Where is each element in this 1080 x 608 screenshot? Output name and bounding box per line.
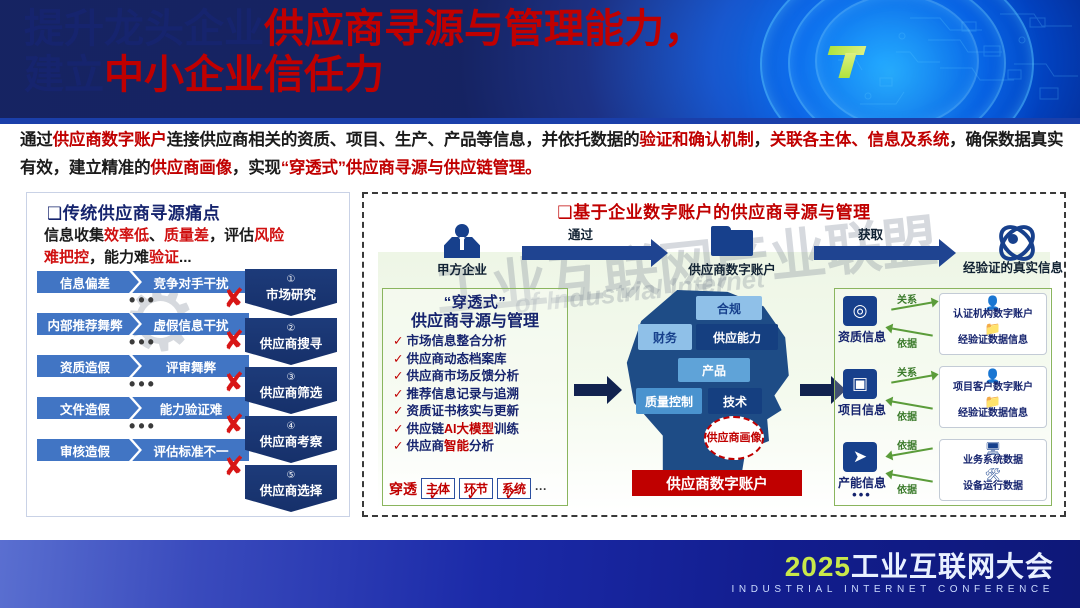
- monitor-icon: 🖥: [940, 442, 1046, 455]
- pain-left-label: 资质造假: [37, 357, 133, 376]
- stage-number: ②: [245, 318, 337, 337]
- stage-name: 供应商搜寻: [245, 337, 337, 351]
- penetrate-tag-subject: 主体: [421, 478, 455, 499]
- check-icon: ✓: [393, 404, 403, 418]
- relation-label-bottom: 依据: [897, 481, 917, 496]
- pain-point-chevron: 信息偏差 竞争对手干扰: [37, 271, 249, 293]
- title-line-2: 建立中小企业信任力: [24, 52, 784, 98]
- sourcing-stage-list: ① 市场研究 ② 供应商搜寻 ③ 供应商筛选 ④ 供应商考察 ⑤ 供应商选择: [245, 269, 337, 514]
- title-line-1: 提升龙头企业供应商寻源与管理能力，: [24, 6, 784, 52]
- t-logo-icon: [825, 44, 871, 80]
- list-item: ✓资质证书核实与更新: [393, 403, 567, 421]
- pain-point-chevron: 文件造假 能力验证难: [37, 397, 249, 419]
- conference-logo-sub: INDUSTRIAL INTERNET CONFERENCE: [732, 584, 1054, 595]
- list-item: ✓供应商智能分析: [393, 438, 567, 456]
- conference-logo-main: 2025工业互联网大会: [732, 552, 1054, 582]
- box-a-heading-1: “穿透式”: [383, 291, 567, 312]
- relation-label-top: 关系: [897, 364, 917, 379]
- puzzle-piece-compliance: 合规: [696, 296, 762, 320]
- flow-node-account: 供应商数字账户: [657, 226, 807, 278]
- row-separator-dots: •••: [37, 335, 249, 353]
- row-separator-dots: •••: [37, 377, 249, 395]
- info-group-project: ▣ 项目信息 关系 依据 👤 项目客户数字账户 📁 经验证数据信息: [835, 364, 1051, 433]
- stage-item: ⑤ 供应商选择: [245, 465, 337, 512]
- flow-arrow-1: [522, 246, 652, 260]
- stage-name: 供应商考察: [245, 435, 337, 449]
- qualification-icon: ◎: [843, 296, 877, 326]
- list-item: ✓市场信息整合分析: [393, 333, 567, 351]
- penetrate-row: 穿透 主体 环节 系统 ···: [389, 478, 547, 499]
- stage-item: ④ 供应商考察: [245, 416, 337, 463]
- evidence-text: 经验证数据信息: [940, 335, 1046, 346]
- stage-item: ② 供应商搜寻: [245, 318, 337, 365]
- pain-left-label: 内部推荐舞弊: [37, 315, 133, 334]
- pain-point-chevron: 资质造假 评审舞弊: [37, 355, 249, 377]
- check-icon: ✓: [393, 352, 403, 366]
- stage-item: ① 市场研究: [245, 269, 337, 316]
- left-panel-pain-points: ⚙ ❑传统供应商寻源痛点 信息收集效率低、质量差，评估风险难把控，能力难验证..…: [26, 192, 350, 517]
- flow-node-label: 供应商数字账户: [657, 259, 807, 278]
- evidence-text: 项目客户数字账户: [940, 382, 1046, 393]
- cross-mark-icon: ✘: [222, 410, 246, 437]
- row-separator-dots: •••: [37, 419, 249, 437]
- pain-point-chevron: 审核造假 评估标准不一: [37, 439, 249, 461]
- penetrate-ellipsis: ···: [535, 482, 547, 496]
- list-item: ✓供应链AI大模型训练: [393, 421, 567, 439]
- slide-footer: 2025工业互联网大会 INDUSTRIAL INTERNET CONFEREN…: [0, 540, 1080, 608]
- penetrate-tag-stage: 环节: [459, 478, 493, 499]
- stage-item: ③ 供应商筛选: [245, 367, 337, 414]
- arrow-into-brain: [574, 384, 608, 396]
- header-divider-bar: [0, 118, 1080, 124]
- penetrative-sourcing-box: “穿透式” 供应商寻源与管理 ✓市场信息整合分析 ✓供应商动态档案库 ✓供应商市…: [382, 288, 568, 506]
- capacity-icon: ➤: [843, 442, 877, 472]
- pain-left-label: 信息偏差: [37, 273, 133, 292]
- info-group-qualification: ◎ 资质信息 关系 依据 👤 认证机构数字账户 📁 经验证数据信息: [835, 291, 1051, 360]
- evidence-text: 认证机构数字账户: [940, 309, 1046, 320]
- flow-node-verified: 经验证的真实信息: [938, 222, 1066, 276]
- evidence-card: 👤 项目客户数字账户 📁 经验证数据信息: [939, 366, 1047, 428]
- relation-label-top: 依据: [897, 437, 917, 452]
- cross-mark-icon: ✘: [222, 452, 246, 479]
- box-a-heading-2: 供应商寻源与管理: [383, 312, 567, 331]
- flow-arrow-1-label: 通过: [568, 224, 593, 243]
- supplier-digital-account-bar: 供应商数字账户: [632, 470, 802, 496]
- stage-number: ③: [245, 367, 337, 386]
- pain-left-label: 文件造假: [37, 399, 133, 418]
- flow-arrow-2: [814, 246, 940, 260]
- puzzle-piece-supply: 供应能力: [696, 324, 778, 350]
- conference-logo: 2025工业互联网大会 INDUSTRIAL INTERNET CONFEREN…: [732, 552, 1054, 595]
- capability-list: ✓市场信息整合分析 ✓供应商动态档案库 ✓供应商市场反馈分析 ✓推荐信息记录与追…: [383, 333, 567, 456]
- puzzle-piece-quality: 质量控制: [636, 388, 702, 414]
- info-group-label: 项目信息: [837, 401, 887, 418]
- summary-paragraph: 通过供应商数字账户连接供应商相关的资质、项目、生产、产品等信息，并依托数据的验证…: [20, 126, 1066, 182]
- supplier-profile-brain: 合规 财务 供应能力 产品 质量控制 技术 供应商画像 供应商数字账户: [576, 288, 820, 506]
- info-group-label: 资质信息: [837, 328, 887, 345]
- list-item: ✓供应商动态档案库: [393, 351, 567, 369]
- cross-mark-icon: ✘: [222, 326, 246, 353]
- atom-icon: [993, 222, 1033, 256]
- evidence-card: 👤 认证机构数字账户 📁 经验证数据信息: [939, 293, 1047, 355]
- stage-number: ④: [245, 416, 337, 435]
- cross-mark-icon: ✘: [222, 284, 246, 311]
- machine-icon: 🛠: [940, 468, 1046, 481]
- check-icon: ✓: [393, 387, 403, 401]
- stage-name: 供应商筛选: [245, 386, 337, 400]
- penetrate-tag-system: 系统: [497, 478, 531, 499]
- folder-icon: 📁: [940, 322, 1046, 335]
- person-icon: 👤: [940, 296, 1046, 309]
- puzzle-piece-tech: 技术: [708, 388, 762, 414]
- puzzle-piece-finance: 财务: [638, 324, 692, 350]
- relation-label-top: 关系: [897, 291, 917, 306]
- evidence-text: 经验证数据信息: [940, 408, 1046, 419]
- relation-label-bottom: 依据: [897, 408, 917, 423]
- stage-number: ⑤: [245, 465, 337, 484]
- left-panel-subtitle: 信息收集效率低、质量差，评估风险难把控，能力难验证...: [44, 225, 294, 269]
- list-item: ✓供应商市场反馈分析: [393, 368, 567, 386]
- relation-label-bottom: 依据: [897, 335, 917, 350]
- evidence-text: 设备运行数据: [940, 481, 1046, 492]
- cross-mark-icon: ✘: [222, 368, 246, 395]
- info-group-capacity: ➤ 产能信息 ••• 依据 依据 🖥 业务系统数据 🛠 设备运行数据: [835, 437, 1051, 506]
- person-icon: 👤: [940, 369, 1046, 382]
- supplier-portrait-badge: 供应商画像: [704, 416, 764, 460]
- stage-name: 供应商选择: [245, 484, 337, 498]
- flow-arrow-2-label: 获取: [858, 224, 883, 243]
- row-separator-dots: •••: [37, 293, 249, 311]
- businessman-icon: [442, 224, 482, 258]
- stage-number: ①: [245, 269, 337, 288]
- page-title: 提升龙头企业供应商寻源与管理能力， 建立中小企业信任力: [24, 6, 784, 99]
- stage-name: 市场研究: [245, 288, 337, 302]
- pain-point-chevron: 内部推荐舞弊 虚假信息干扰: [37, 313, 249, 335]
- project-icon: ▣: [843, 369, 877, 399]
- puzzle-piece-product: 产品: [678, 358, 750, 382]
- top-flow-row: 甲方企业 通过 供应商数字账户 获取 经验证的真实信息: [372, 220, 1058, 286]
- right-panel-digital-account: 工业互联网产业联盟 of Industrial Internet ❑基于企业数字…: [362, 192, 1066, 517]
- arrow-out-of-brain: [800, 384, 832, 396]
- left-panel-title: ❑传统供应商寻源痛点: [47, 199, 220, 224]
- flow-node-label: 甲方企业: [402, 259, 522, 278]
- list-item: ✓推荐信息记录与追溯: [393, 386, 567, 404]
- evidence-card: 🖥 业务系统数据 🛠 设备运行数据: [939, 439, 1047, 501]
- pain-left-label: 审核造假: [37, 441, 133, 460]
- folder-icon: [711, 226, 753, 258]
- check-icon: ✓: [393, 439, 403, 453]
- slide-root: 提升龙头企业供应商寻源与管理能力， 建立中小企业信任力 通过供应商数字账户连接供…: [0, 0, 1080, 608]
- penetrate-label: 穿透: [389, 479, 417, 499]
- check-icon: ✓: [393, 422, 403, 436]
- slide-header: 提升龙头企业供应商寻源与管理能力， 建立中小企业信任力: [0, 0, 1080, 118]
- info-group-ellipsis: •••: [837, 487, 887, 502]
- verified-info-column: ◎ 资质信息 关系 依据 👤 认证机构数字账户 📁 经验证数据信息 ▣ 项目信息…: [834, 288, 1052, 506]
- flow-node-buyer: 甲方企业: [402, 224, 522, 278]
- check-icon: ✓: [393, 369, 403, 383]
- folder-icon: 📁: [940, 395, 1046, 408]
- evidence-text: 业务系统数据: [940, 455, 1046, 466]
- flow-node-label: 经验证的真实信息: [938, 257, 1066, 276]
- check-icon: ✓: [393, 334, 403, 348]
